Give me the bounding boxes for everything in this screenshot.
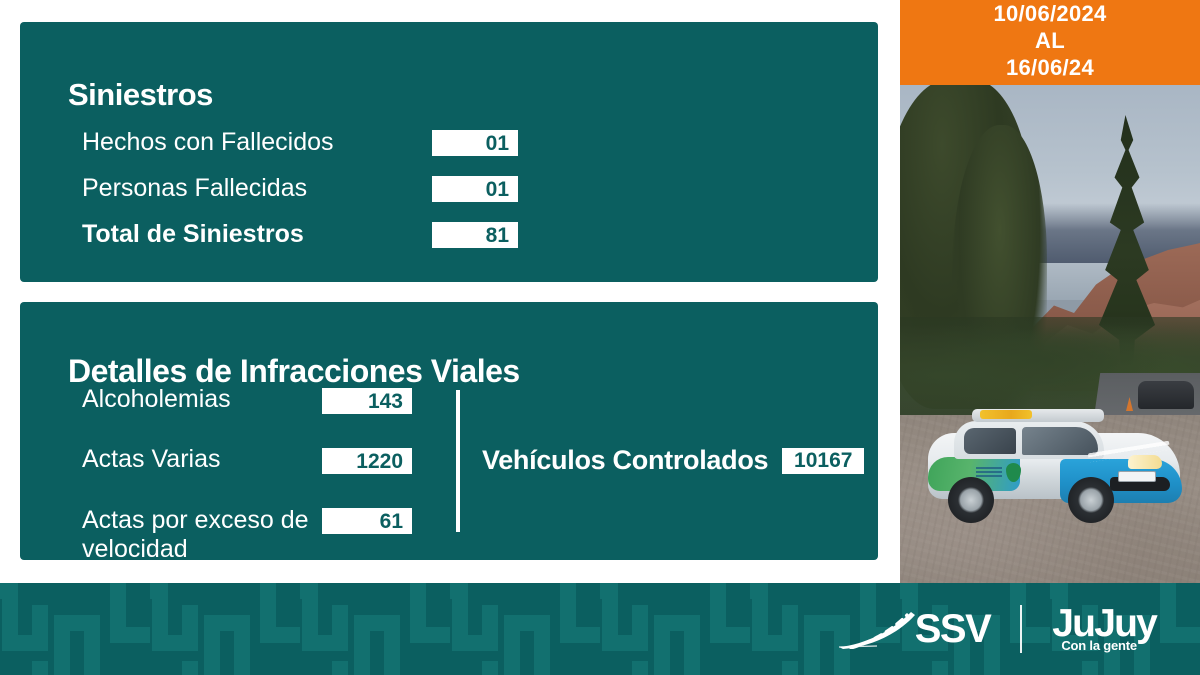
panel-infracciones-viales: Detalles de Infracciones Viales Alcohole… xyxy=(20,302,878,560)
metric-value-box: 143 xyxy=(322,388,412,414)
metric-row-personas-fallecidas: Personas Fallecidas 01 xyxy=(82,175,518,203)
panel-siniestros: Siniestros Hechos con Fallecidos 01 Pers… xyxy=(20,22,878,282)
highlight-label: Vehículos Controlados xyxy=(482,445,768,476)
highlight-value-box: 10167 xyxy=(782,448,864,474)
logo-divider xyxy=(1020,605,1022,653)
right-column: 10/06/2024 AL 16/06/24 xyxy=(900,0,1200,583)
patrol-car-photo xyxy=(900,85,1200,583)
car-amber-beacon xyxy=(980,410,1032,419)
jujuy-tagline: Con la gente xyxy=(1061,639,1137,652)
metric-value-box: 61 xyxy=(322,508,412,534)
road-icon xyxy=(837,609,917,649)
ssv-logo-text: SSV xyxy=(915,609,991,649)
infographic-root: Siniestros Hechos con Fallecidos 01 Pers… xyxy=(0,0,1200,675)
metric-value-box: 01 xyxy=(432,130,518,156)
jujuy-logo: JuJuy Con la gente xyxy=(1052,606,1156,652)
date-range-band: 10/06/2024 AL 16/06/24 xyxy=(900,0,1200,85)
footer-bar: SSV JuJuy Con la gente xyxy=(0,583,1200,675)
photo-patrol-car xyxy=(920,403,1188,523)
footer-logo-group: SSV JuJuy Con la gente xyxy=(837,583,1156,675)
car-windshield xyxy=(1022,427,1098,455)
date-range-from: 10/06/2024 xyxy=(993,1,1106,28)
panel-infracciones-title: Detalles de Infracciones Viales xyxy=(68,355,520,387)
date-range-connector: AL xyxy=(1035,28,1065,55)
highlight-vehiculos-controlados: Vehículos Controlados 10167 xyxy=(482,445,864,476)
metric-label: Hechos con Fallecidos xyxy=(82,129,432,157)
car-rear-wheel xyxy=(948,477,994,523)
date-range-to: 16/06/24 xyxy=(1006,55,1094,82)
metric-label: Actas por exceso de velocidad xyxy=(82,506,322,564)
metric-label: Personas Fallecidas xyxy=(82,175,432,203)
infracciones-metric-list: Alcoholemias 143 Actas Varias 1220 Actas… xyxy=(82,386,442,566)
car-license-plate xyxy=(1118,471,1156,482)
metric-row-total-de-siniestros: Total de Siniestros 81 xyxy=(82,221,518,249)
panel-siniestros-title: Siniestros xyxy=(68,79,213,110)
metric-label: Total de Siniestros xyxy=(82,221,432,249)
metric-row-actas-varias: Actas Varias 1220 xyxy=(82,446,442,488)
metric-value-box: 1220 xyxy=(322,448,412,474)
metric-row-alcoholemias: Alcoholemias 143 xyxy=(82,386,442,428)
metric-value-box: 01 xyxy=(432,176,518,202)
car-rear-window xyxy=(964,428,1016,454)
metric-row-actas-por-exceso-de-velocidad: Actas por exceso de velocidad 61 xyxy=(82,506,442,548)
metric-row-hechos-con-fallecidos: Hechos con Fallecidos 01 xyxy=(82,129,518,157)
car-headlight xyxy=(1128,455,1162,469)
ssv-logo: SSV xyxy=(837,609,991,649)
metric-label: Actas Varias xyxy=(82,446,322,474)
jujuy-logo-text: JuJuy xyxy=(1052,606,1156,642)
car-front-wheel xyxy=(1068,477,1114,523)
metric-label: Alcoholemias xyxy=(82,386,322,414)
car-door-lettering xyxy=(976,467,1002,477)
vertical-divider xyxy=(456,390,460,532)
metric-value-box: 81 xyxy=(432,222,518,248)
content-column: Siniestros Hechos con Fallecidos 01 Pers… xyxy=(0,0,898,583)
